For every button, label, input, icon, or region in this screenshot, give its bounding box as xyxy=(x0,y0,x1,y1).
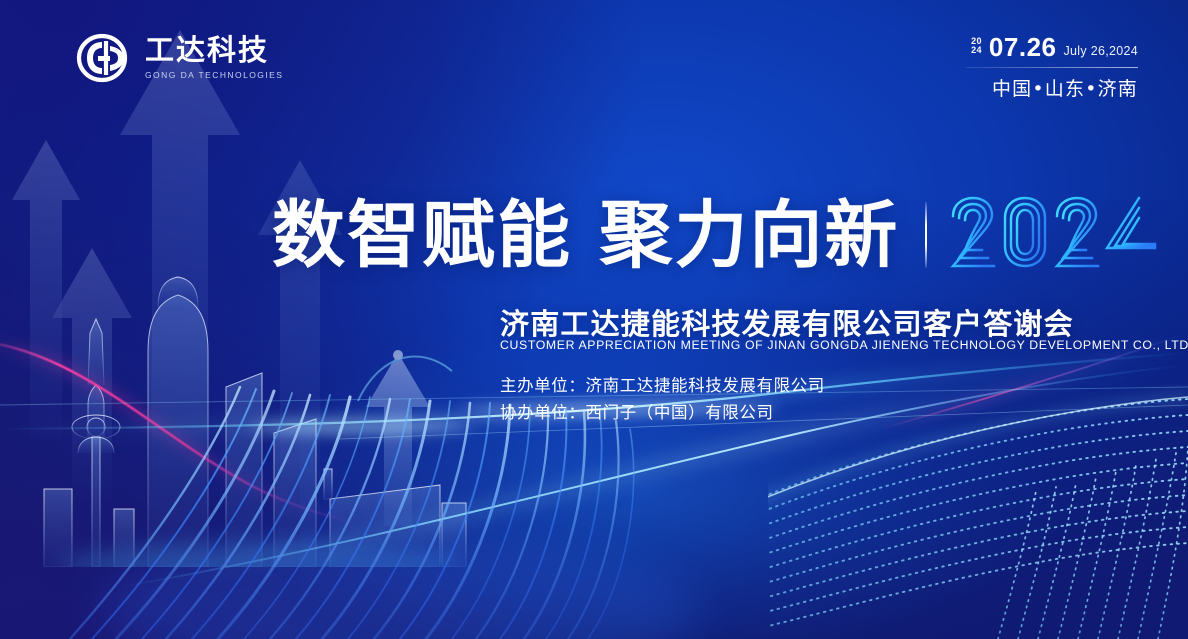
event-year-bottom: 24 xyxy=(971,46,982,56)
vertical-divider-icon xyxy=(925,202,927,268)
event-month-day: 07.26 xyxy=(989,34,1057,60)
page-title: 数智赋能 聚力向新 xyxy=(272,199,899,272)
event-location: 中国•山东•济南 xyxy=(966,74,1138,101)
logo-company-name-cn: 工达科技 xyxy=(145,36,283,65)
brand-logo[interactable]: 工达科技 GONG DA TECHNOLOGIES xyxy=(76,32,283,84)
date-divider xyxy=(966,67,1138,68)
event-date-row: 20 24 07.26 July 26,2024 xyxy=(966,34,1138,60)
year-badge-2024 xyxy=(949,192,1161,278)
event-date-english: July 26,2024 xyxy=(1064,45,1139,61)
organizer-host: 主办单位：济南工达捷能科技发展有限公司 xyxy=(500,372,825,396)
organizer-coorganizer: 协办单位：西门子（中国）有限公司 xyxy=(500,399,774,423)
dot-matrix-wave-icon xyxy=(768,339,1188,639)
logo-company-name-en: GONG DA TECHNOLOGIES xyxy=(145,71,283,80)
poster-canvas: 工达科技 GONG DA TECHNOLOGIES 20 24 07.26 Ju… xyxy=(0,0,1188,639)
subtitle-english: CUSTOMER APPRECIATION MEETING OF JINAN G… xyxy=(500,338,1188,352)
hero-title-row: 数智赋能 聚力向新 xyxy=(272,192,1161,278)
gd-monogram-ellipse-icon xyxy=(76,32,132,84)
event-date-block: 20 24 07.26 July 26,2024 中国•山东•济南 xyxy=(966,34,1138,101)
subtitle-chinese: 济南工达捷能科技发展有限公司客户答谢会 xyxy=(500,301,1074,343)
event-year-stacked: 20 24 xyxy=(971,37,982,60)
